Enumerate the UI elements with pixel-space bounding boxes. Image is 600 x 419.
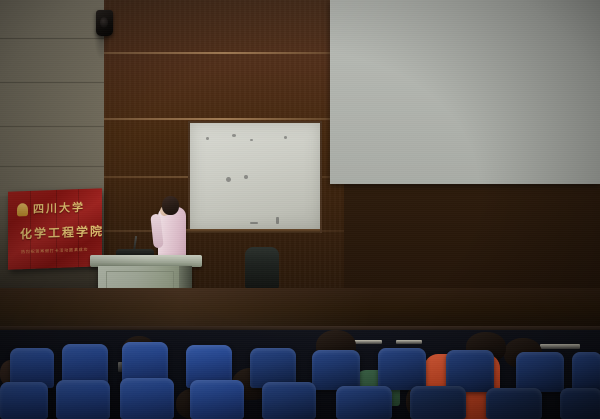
auditorium-seat	[312, 350, 360, 390]
auditorium-seat	[262, 382, 316, 419]
auditorium-photo: 四川大学 SICHUAN UNIVERSITY “研途有你 奋战到底” 寒假打卡…	[0, 0, 600, 419]
auditorium-seat	[378, 348, 426, 390]
auditorium-seat	[560, 388, 600, 419]
auditorium-seat	[56, 380, 110, 419]
audience-seats	[0, 0, 600, 419]
auditorium-seat	[336, 386, 392, 419]
auditorium-seat	[190, 380, 244, 419]
auditorium-seat	[120, 378, 174, 419]
auditorium-seat	[516, 352, 564, 392]
auditorium-seat	[0, 382, 48, 419]
auditorium-seat	[486, 388, 542, 419]
auditorium-seat	[572, 352, 600, 392]
auditorium-seat	[410, 386, 466, 419]
